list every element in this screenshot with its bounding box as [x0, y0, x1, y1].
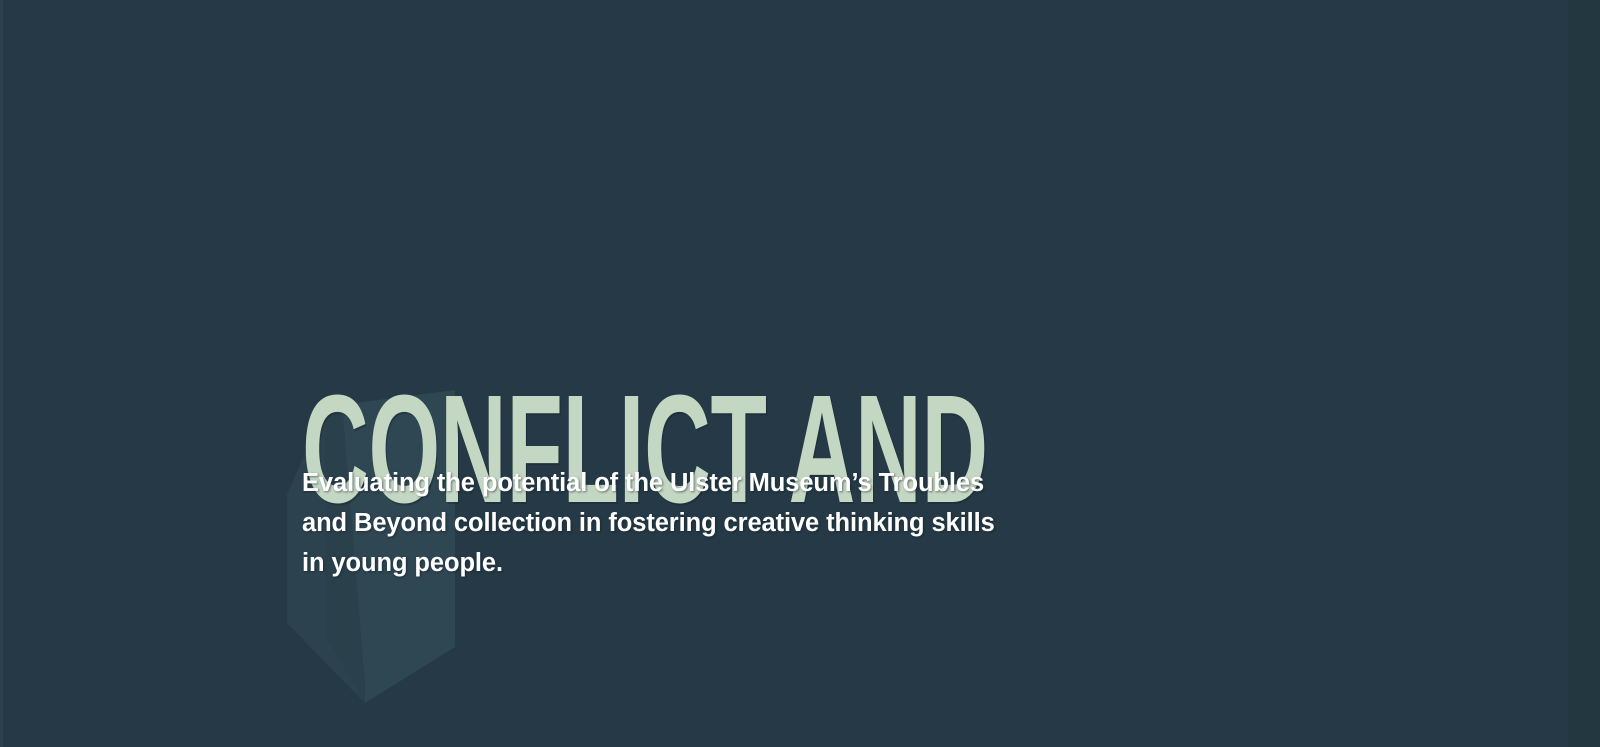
- page-title: CONFLICT AND CREATIVITY: [302, 118, 902, 747]
- page-right-edge: [1568, 0, 1600, 747]
- page-left-edge: [0, 0, 3, 747]
- page-subtitle: Evaluating the potential of the Ulster M…: [302, 463, 1002, 583]
- hero-content: CONFLICT AND CREATIVITY Evaluating the p…: [302, 118, 1302, 747]
- hero-section: CONFLICT AND CREATIVITY Evaluating the p…: [0, 0, 1600, 747]
